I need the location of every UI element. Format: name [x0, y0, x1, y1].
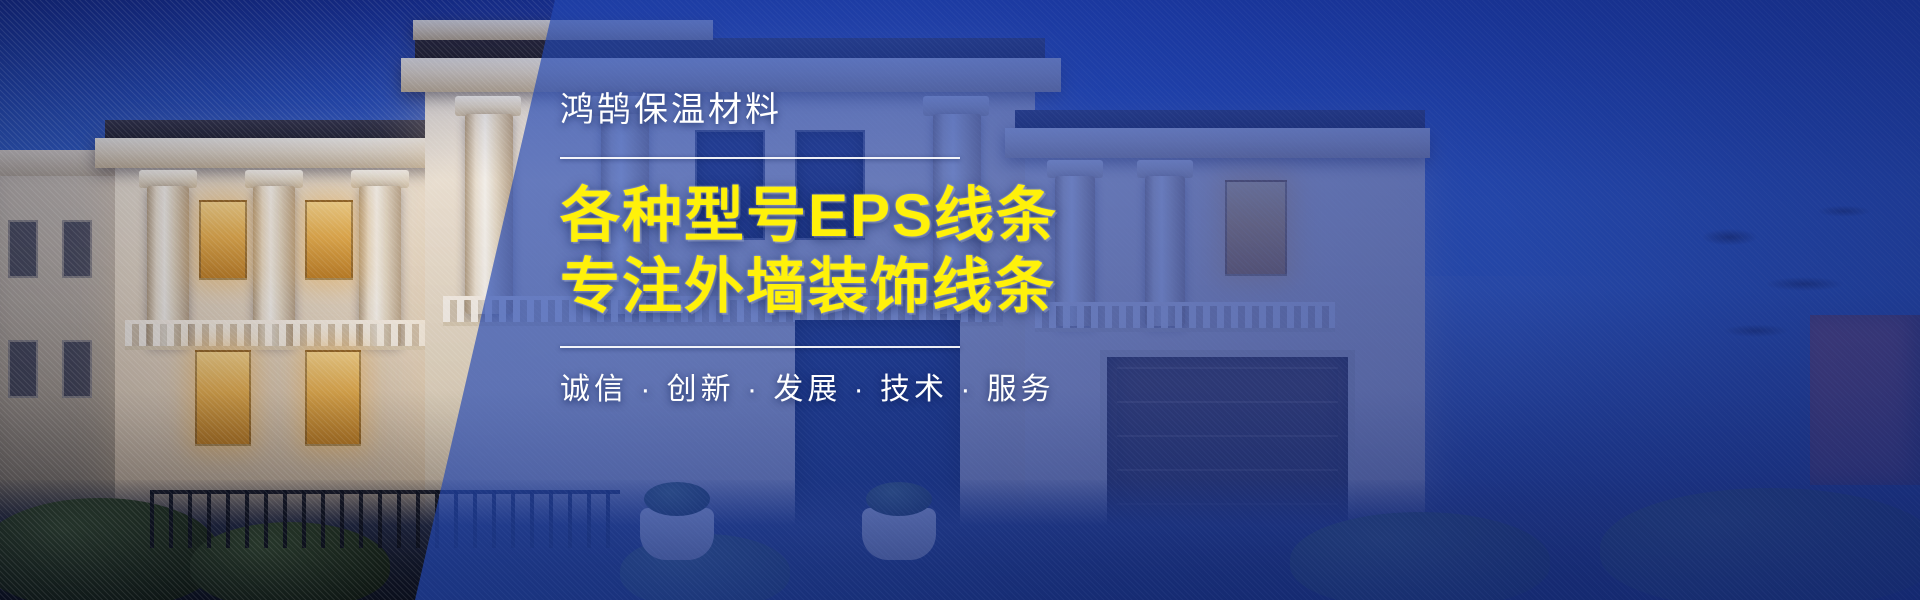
divider-top — [560, 157, 960, 159]
headline-line-2: 专注外墙装饰线条 — [560, 252, 1320, 323]
headline-line-1: 各种型号EPS线条 — [560, 181, 1320, 252]
brand-name: 鸿鹄保温材料 — [560, 90, 1320, 131]
promo-banner: 鸿鹄保温材料 各种型号EPS线条 专注外墙装饰线条 诚信 · 创新 · 发展 ·… — [0, 0, 1920, 600]
divider-bottom — [560, 346, 960, 348]
banner-text-block: 鸿鹄保温材料 各种型号EPS线条 专注外墙装饰线条 诚信 · 创新 · 发展 ·… — [560, 90, 1320, 409]
headline-group: 各种型号EPS线条 专注外墙装饰线条 — [560, 181, 1320, 323]
tagline: 诚信 · 创新 · 发展 · 技术 · 服务 — [560, 370, 1320, 409]
